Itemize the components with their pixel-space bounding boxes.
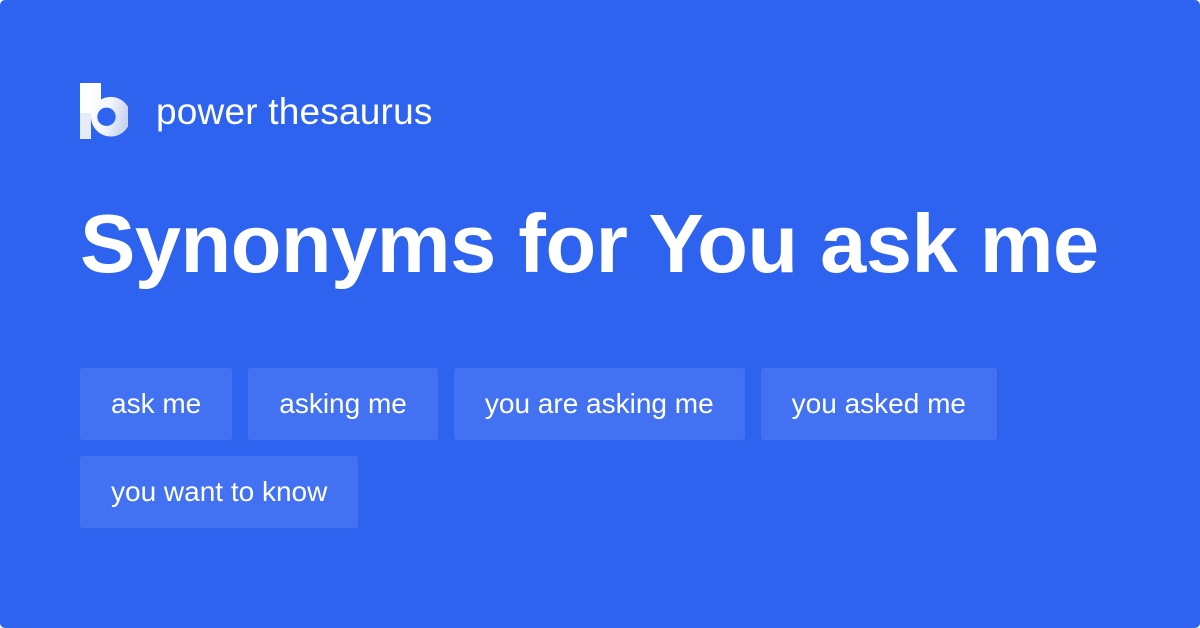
- synonym-chip[interactable]: you want to know: [80, 456, 358, 528]
- brand-header[interactable]: power thesaurus: [80, 80, 433, 142]
- synonym-chip[interactable]: you asked me: [761, 368, 997, 440]
- brand-name: power thesaurus: [156, 93, 433, 130]
- synonym-chip[interactable]: you are asking me: [454, 368, 745, 440]
- power-thesaurus-og-card: power thesaurus Synonyms for You ask me …: [0, 0, 1200, 628]
- synonym-chip[interactable]: ask me: [80, 368, 232, 440]
- page-title: Synonyms for You ask me: [80, 196, 1140, 292]
- synonym-chip[interactable]: asking me: [248, 368, 438, 440]
- synonym-chip-list: ask me asking me you are asking me you a…: [80, 368, 1130, 528]
- power-thesaurus-b-logo-icon: [80, 83, 128, 139]
